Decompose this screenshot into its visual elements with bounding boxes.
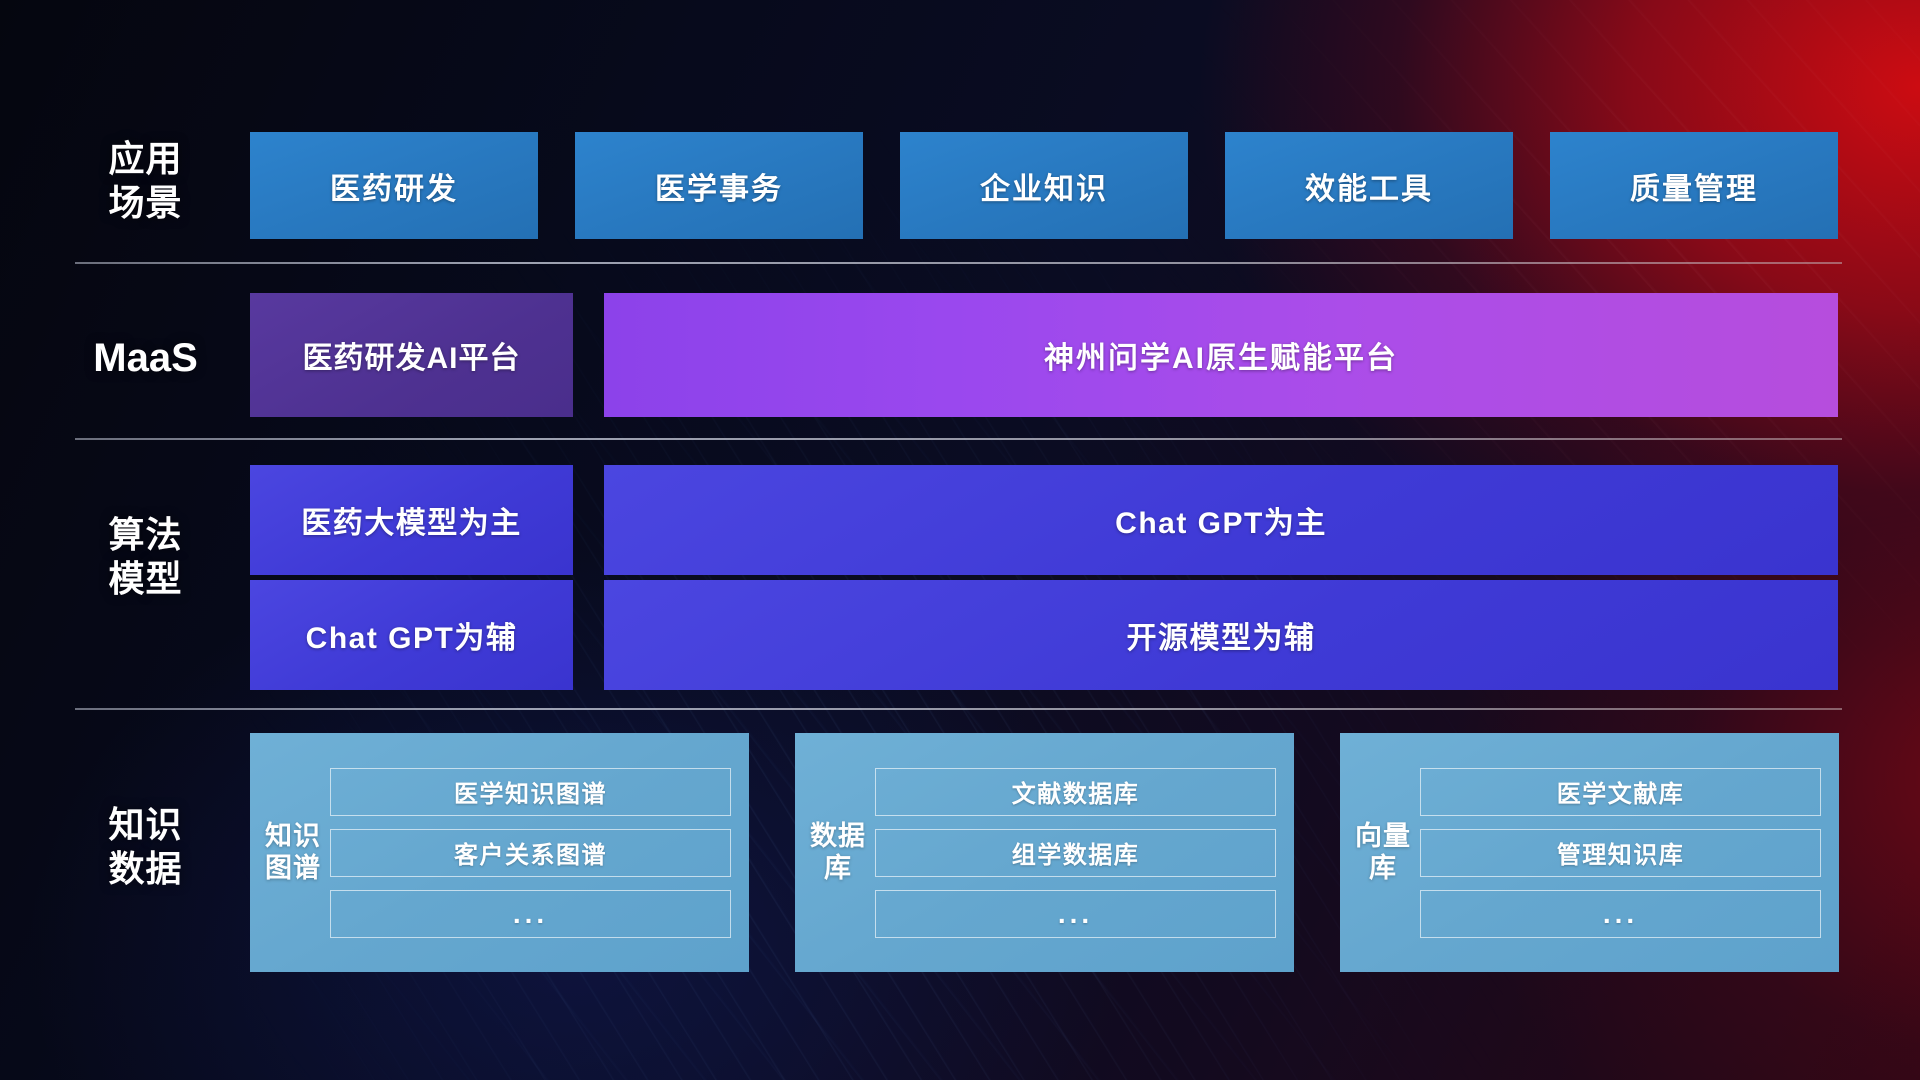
knowledge-item[interactable]: 管理知识库 xyxy=(1420,829,1821,877)
knowledge-item[interactable]: 文献数据库 xyxy=(875,768,1276,816)
maas-box-shenzhou-wenxue-platform[interactable]: 神州问学AI原生赋能平台 xyxy=(604,293,1838,417)
row-label-line: 场景 xyxy=(78,181,213,225)
row-label-line: 数据 xyxy=(78,847,213,891)
knowledge-item-more[interactable]: ... xyxy=(1420,890,1821,938)
divider-line-3 xyxy=(75,708,1842,710)
scenario-box-label: 效能工具 xyxy=(1305,164,1433,208)
row-label-knowledge-data: 知识 数据 xyxy=(78,803,213,891)
knowledge-panel-knowledge-graph[interactable]: 知识图谱 医学知识图谱 客户关系图谱 ... xyxy=(250,733,749,972)
maas-box-label: 医药研发AI平台 xyxy=(303,333,521,377)
scenario-box-quality-management[interactable]: 质量管理 xyxy=(1550,132,1838,239)
scenario-box-label: 医药研发 xyxy=(330,164,458,208)
scenario-box-medical-affairs[interactable]: 医学事务 xyxy=(575,132,863,239)
row-label-line: 知识 xyxy=(78,803,213,847)
knowledge-panel-item-list: 医学知识图谱 客户关系图谱 ... xyxy=(322,752,749,954)
algo-box-opensource-secondary[interactable]: 开源模型为辅 xyxy=(604,580,1838,690)
knowledge-item[interactable]: 客户关系图谱 xyxy=(330,829,731,877)
algo-box-label: 医药大模型为主 xyxy=(301,498,522,542)
divider-line-1 xyxy=(75,262,1842,264)
knowledge-panel-label: 数据库 xyxy=(795,821,867,884)
knowledge-item-more[interactable]: ... xyxy=(875,890,1276,938)
row-label-line: 模型 xyxy=(78,557,213,601)
knowledge-item[interactable]: 组学数据库 xyxy=(875,829,1276,877)
scenario-box-label: 企业知识 xyxy=(980,164,1108,208)
algo-box-label: 开源模型为辅 xyxy=(1127,613,1316,657)
knowledge-item-more[interactable]: ... xyxy=(330,890,731,938)
scenario-box-label: 质量管理 xyxy=(1630,164,1758,208)
knowledge-panel-database[interactable]: 数据库 文献数据库 组学数据库 ... xyxy=(795,733,1294,972)
algo-box-label: Chat GPT为辅 xyxy=(306,613,518,657)
maas-box-pharma-ai-platform[interactable]: 医药研发AI平台 xyxy=(250,293,573,417)
knowledge-item[interactable]: 医学文献库 xyxy=(1420,768,1821,816)
row-label-maas: MaaS xyxy=(78,334,213,383)
scenario-box-efficiency-tools[interactable]: 效能工具 xyxy=(1225,132,1513,239)
architecture-diagram: 应用 场景 医药研发 医学事务 企业知识 效能工具 质量管理 MaaS 医药研发… xyxy=(0,0,1920,1080)
knowledge-panel-item-list: 医学文献库 管理知识库 ... xyxy=(1412,752,1839,954)
algo-box-label: Chat GPT为主 xyxy=(1115,498,1327,542)
row-label-application-scenarios: 应用 场景 xyxy=(78,137,213,225)
scenario-box-label: 医学事务 xyxy=(655,164,783,208)
scenario-box-pharma-rd[interactable]: 医药研发 xyxy=(250,132,538,239)
knowledge-panel-label: 向量库 xyxy=(1340,821,1412,884)
scenario-box-enterprise-knowledge[interactable]: 企业知识 xyxy=(900,132,1188,239)
knowledge-panel-label: 知识图谱 xyxy=(250,821,322,884)
row-label-algorithm-model: 算法 模型 xyxy=(78,513,213,601)
row-label-line: MaaS xyxy=(78,334,213,383)
algo-box-chatgpt-primary[interactable]: Chat GPT为主 xyxy=(604,465,1838,575)
maas-box-label: 神州问学AI原生赋能平台 xyxy=(1044,333,1398,377)
knowledge-item[interactable]: 医学知识图谱 xyxy=(330,768,731,816)
row-label-line: 算法 xyxy=(78,513,213,557)
knowledge-panel-vector-store[interactable]: 向量库 医学文献库 管理知识库 ... xyxy=(1340,733,1839,972)
row-label-line: 应用 xyxy=(78,137,213,181)
algo-box-chatgpt-secondary[interactable]: Chat GPT为辅 xyxy=(250,580,573,690)
knowledge-panel-item-list: 文献数据库 组学数据库 ... xyxy=(867,752,1294,954)
algo-box-pharma-llm-primary[interactable]: 医药大模型为主 xyxy=(250,465,573,575)
divider-line-2 xyxy=(75,438,1842,440)
